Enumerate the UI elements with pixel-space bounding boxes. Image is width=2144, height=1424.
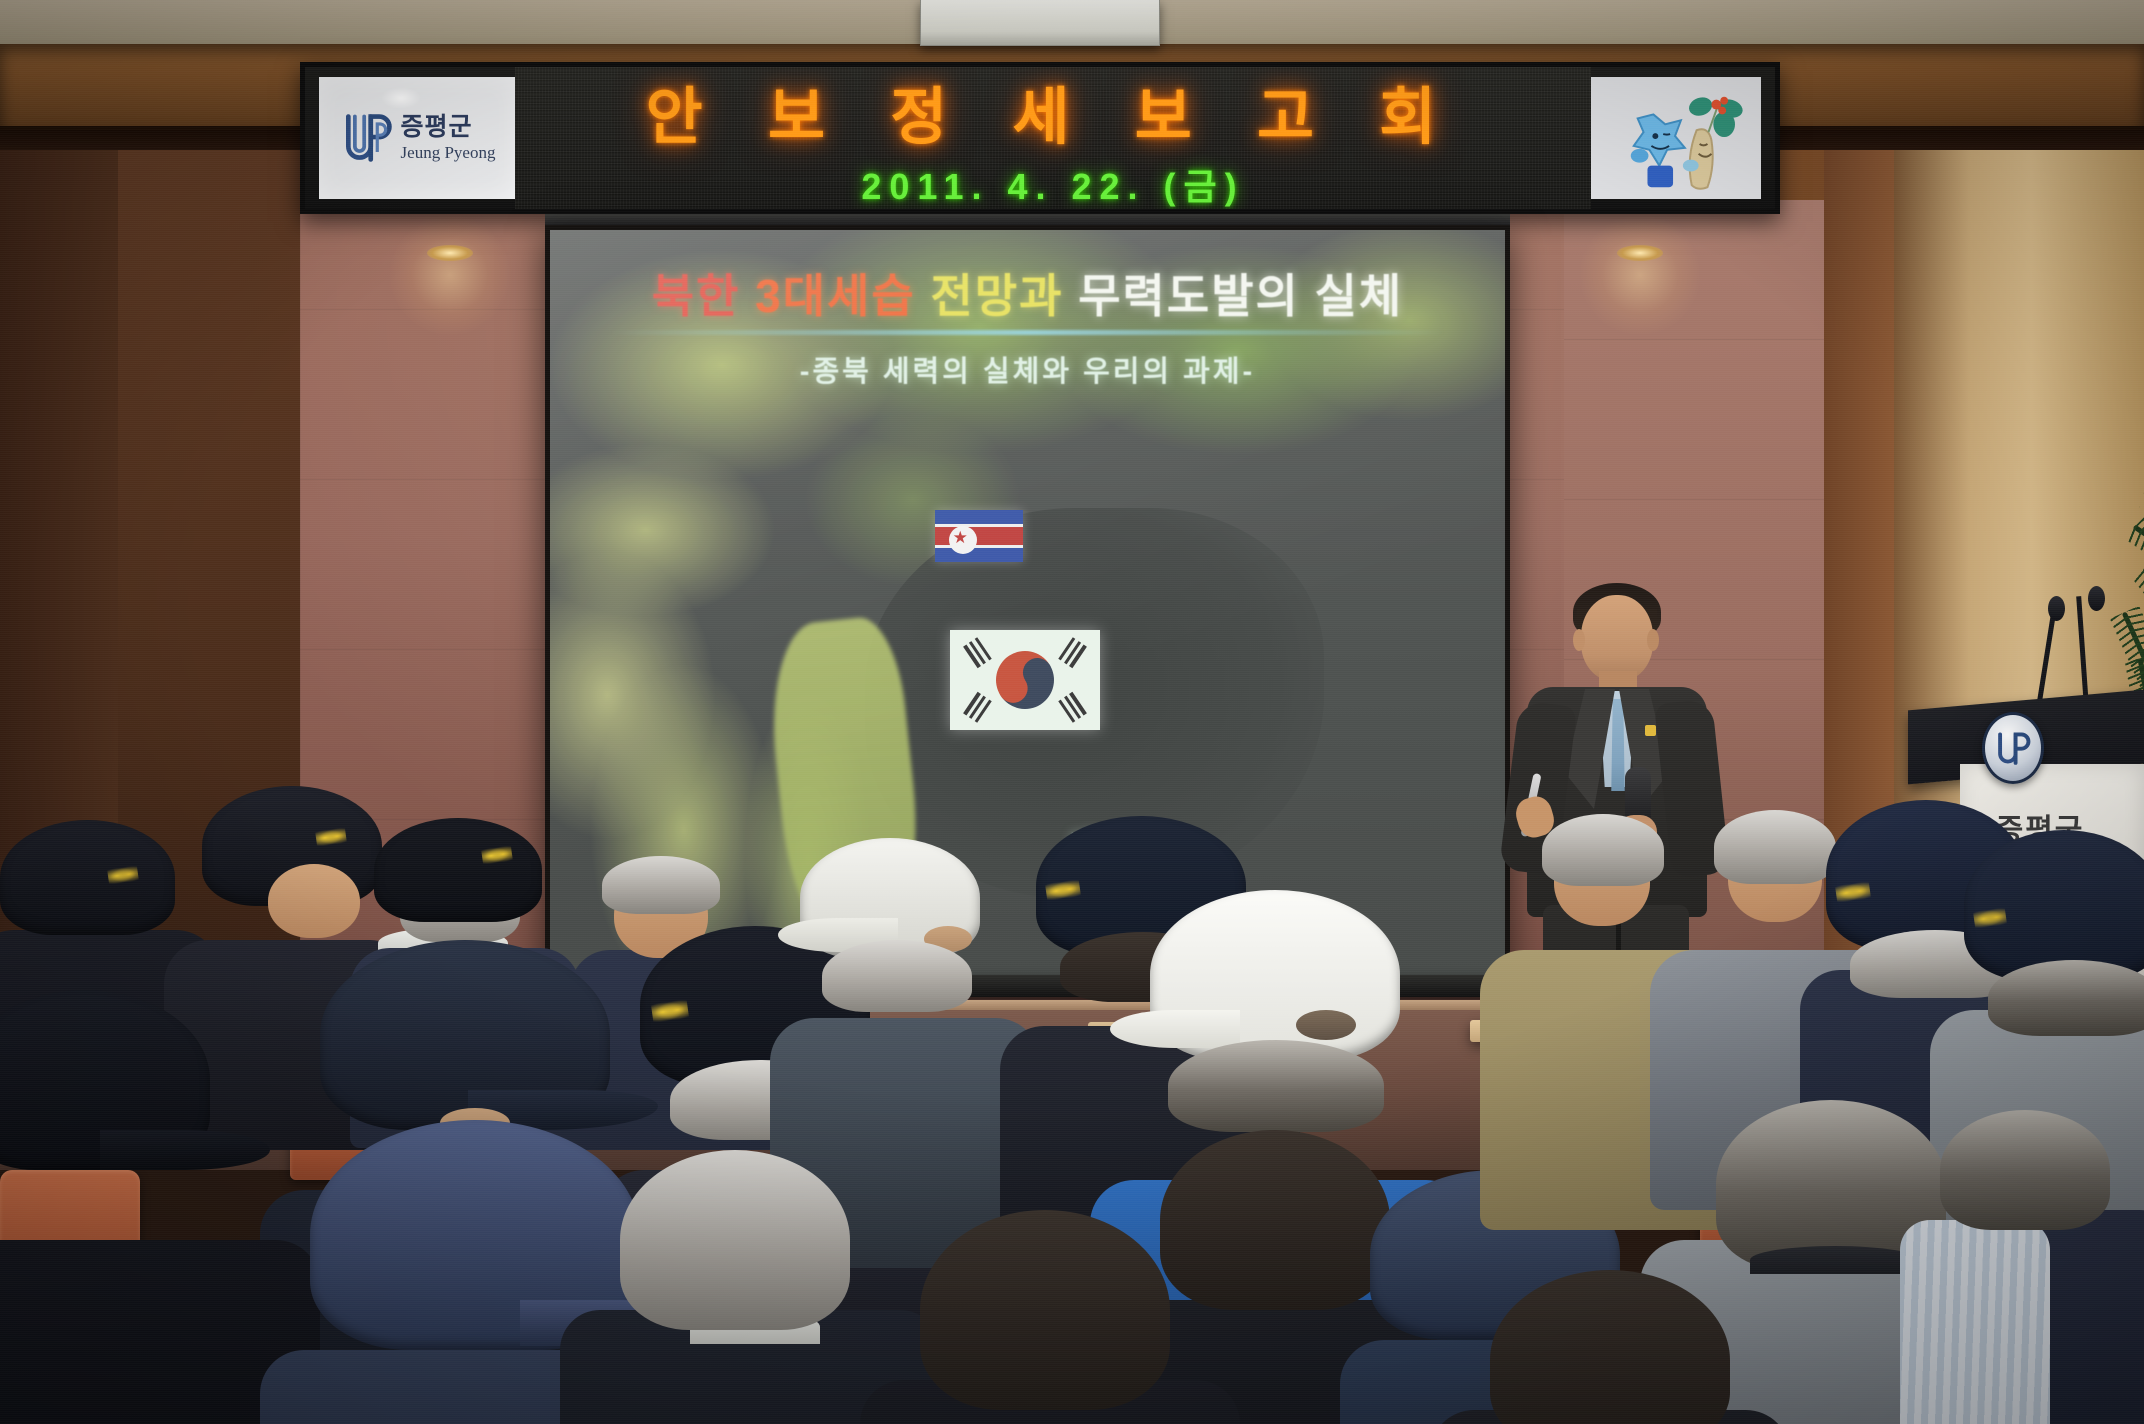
slide-title-part-4: 무력도발의 실체 (1078, 270, 1403, 322)
audience-hair (920, 1210, 1170, 1410)
presenter-head (1581, 595, 1653, 681)
audience-member (560, 1110, 920, 1424)
audience-member (880, 1200, 1210, 1424)
taeguk-symbol (985, 640, 1065, 720)
led-date-text: 2011. 4. 22. (금) (861, 158, 1244, 209)
trigram-geon (962, 637, 991, 669)
cap-back-gap (1296, 1010, 1356, 1040)
audience-hair (1542, 814, 1664, 886)
cap-brim (100, 1130, 270, 1170)
trigram-gon (1058, 691, 1087, 723)
banner-logo-korean: 증평군 (401, 115, 496, 140)
presenter-lapel-pin (1645, 725, 1656, 736)
audience-hair (602, 856, 720, 914)
veteran-cap (374, 818, 542, 922)
north-korea-flag: ★ (935, 510, 1023, 562)
jp-emblem-icon (1993, 728, 2033, 768)
slide-title-part-1: 북한 (652, 270, 755, 322)
downlight-right (1617, 245, 1663, 261)
presenter-ear-right (1647, 629, 1659, 651)
slide-title-underline (610, 330, 1445, 335)
slide-title: 북한 3대세습 전망과 무력도발의 실체 (550, 260, 1505, 326)
trigram-ri (962, 691, 991, 723)
slide-title-part-2: 3대세습 (755, 270, 930, 322)
led-display: 안 보 정 세 보 고 회 2011. 4. 22. (금) (515, 67, 1591, 209)
audience (0, 820, 2144, 1424)
audience-hair (1988, 960, 2144, 1036)
banner-left-logo: 증평군 Jeung Pyeong (319, 77, 515, 199)
slide-title-part-3: 전망과 (930, 270, 1078, 322)
mascot-characters-icon (1601, 81, 1751, 199)
podium-mic-head-1 (2048, 596, 2065, 621)
striped-shirt (1900, 1220, 2050, 1424)
trigram-gam (1058, 637, 1087, 669)
audience-hair (822, 940, 972, 1012)
audience-member (1440, 1250, 1770, 1424)
podium-mic-head-2 (2088, 586, 2105, 611)
presenter-ear-left (1573, 629, 1585, 651)
ceiling-projector (920, 0, 1160, 46)
veteran-cap (0, 820, 175, 935)
audience-hair (1940, 1110, 2110, 1230)
audience-hair (620, 1150, 850, 1330)
downlight-left (427, 245, 473, 261)
auditorium-photo: 증평군 Jeung Pyeong 안 보 정 세 보 고 회 2011. 4. … (0, 0, 2144, 1424)
jp-logo-icon (339, 109, 395, 167)
south-korea-flag (950, 630, 1100, 730)
podium-jp-emblem (1982, 712, 2044, 784)
veteran-cap (1964, 830, 2144, 980)
banner-logo-english: Jeung Pyeong (401, 144, 496, 161)
slide-subtitle: -종북 세력의 실체와 우리의 과제- (550, 348, 1505, 390)
cap-brim (1110, 1010, 1240, 1048)
led-banner: 증평군 Jeung Pyeong 안 보 정 세 보 고 회 2011. 4. … (300, 62, 1780, 214)
led-title-text: 안 보 정 세 보 고 회 (646, 67, 1461, 156)
banner-mascot-panel (1591, 77, 1761, 199)
audience-hair (1490, 1270, 1730, 1424)
audience-member (0, 980, 300, 1424)
audience-member (1880, 1120, 2144, 1424)
